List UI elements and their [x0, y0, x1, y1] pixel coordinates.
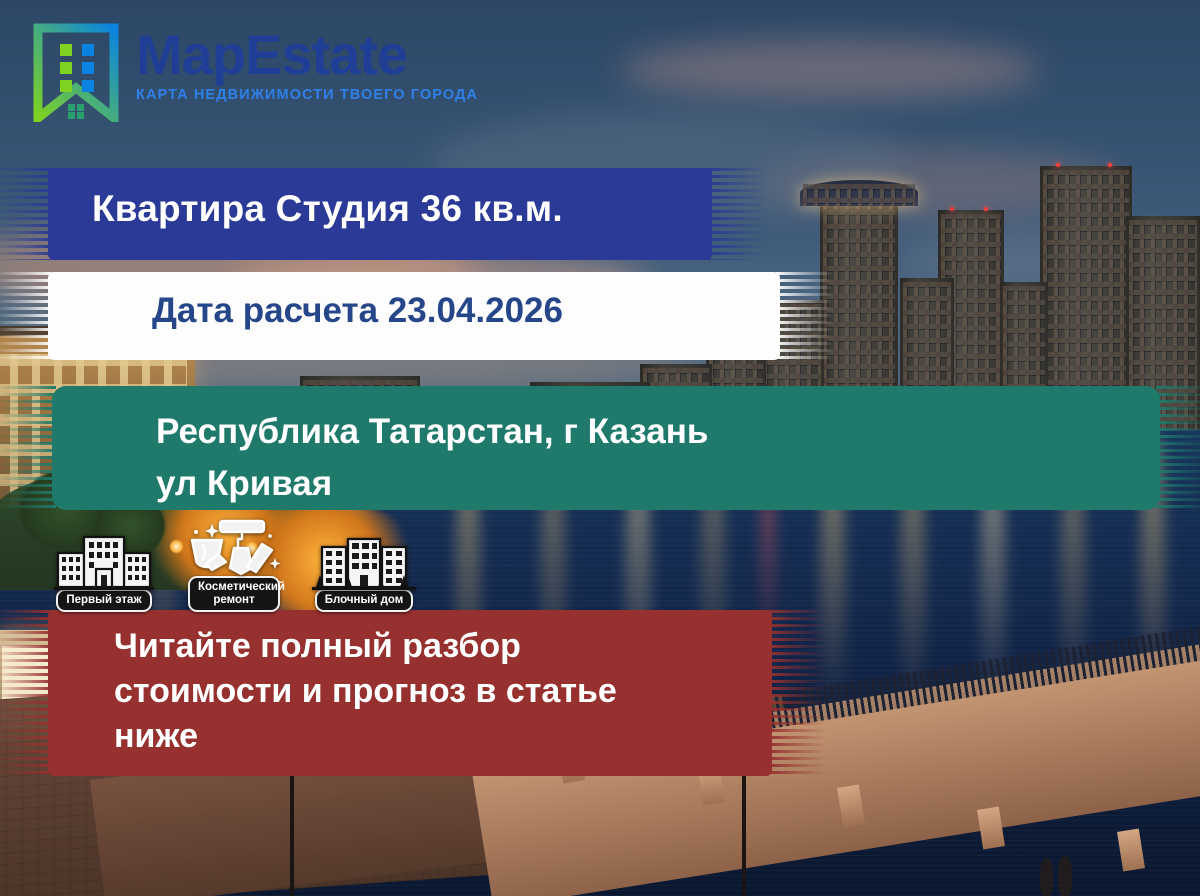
- cloud: [620, 40, 1040, 100]
- brand-tagline: КАРТА НЕДВИЖИМОСТИ ТВОЕГО ГОРОДА: [136, 87, 478, 103]
- cta-text: Читайте полный разбор стоимости и прогно…: [48, 610, 772, 760]
- brand-name-part1: Map: [136, 23, 245, 86]
- brush-edge-right: [1156, 386, 1200, 510]
- promo-card: MapEstate КАРТА НЕДВИЖИМОСТИ ТВОЕГО ГОРО…: [0, 0, 1200, 896]
- brush-edge-right: [776, 272, 834, 360]
- brush-edge-left: [0, 168, 52, 260]
- property-title-banner: Квартира Студия 36 кв.м.: [48, 168, 712, 260]
- panel-apartment-building-icon: [312, 531, 416, 593]
- classic-building-icon: [52, 531, 156, 593]
- address-line-region-city: Республика Татарстан, г Казань: [156, 406, 1160, 458]
- badge-label: Косметический ремонт: [188, 576, 280, 612]
- paint-roller-brush-bucket-icon: [182, 518, 286, 580]
- calculation-date-text: Дата расчета 23.04.2026: [48, 272, 780, 331]
- property-title-text: Квартира Студия 36 кв.м.: [48, 168, 712, 230]
- brand-name: MapEstate: [136, 23, 407, 86]
- brand-name-part2: Estate: [245, 23, 407, 86]
- calculation-date-banner: Дата расчета 23.04.2026: [48, 272, 780, 360]
- cta-line-1: Читайте полный разбор: [114, 624, 772, 669]
- brush-edge-left: [0, 610, 52, 776]
- badge-first-floor[interactable]: Первый этаж: [48, 531, 160, 612]
- brand-logo[interactable]: MapEstate КАРТА НЕДВИЖИМОСТИ ТВОЕГО ГОРО…: [30, 22, 478, 122]
- brush-edge-right: [768, 610, 826, 776]
- address-text: Республика Татарстан, г Казань ул Кривая: [52, 386, 1160, 510]
- bookmark-building-icon: [30, 22, 122, 122]
- badge-cosmetic-renovation[interactable]: Косметический ремонт: [178, 518, 290, 612]
- brush-edge-left: [0, 272, 52, 360]
- cta-line-2: стоимости и прогноз в статье: [114, 669, 772, 714]
- address-banner: Республика Татарстан, г Казань ул Кривая: [52, 386, 1160, 510]
- address-line-street: ул Кривая: [156, 458, 1160, 510]
- brush-edge-left: [0, 386, 56, 510]
- brush-edge-right: [708, 168, 766, 260]
- feature-badges: Первый этаж: [48, 518, 420, 612]
- cta-line-3: ниже: [114, 714, 772, 759]
- badge-block-house[interactable]: Блочный дом: [308, 531, 420, 612]
- cta-banner[interactable]: Читайте полный разбор стоимости и прогно…: [48, 610, 772, 776]
